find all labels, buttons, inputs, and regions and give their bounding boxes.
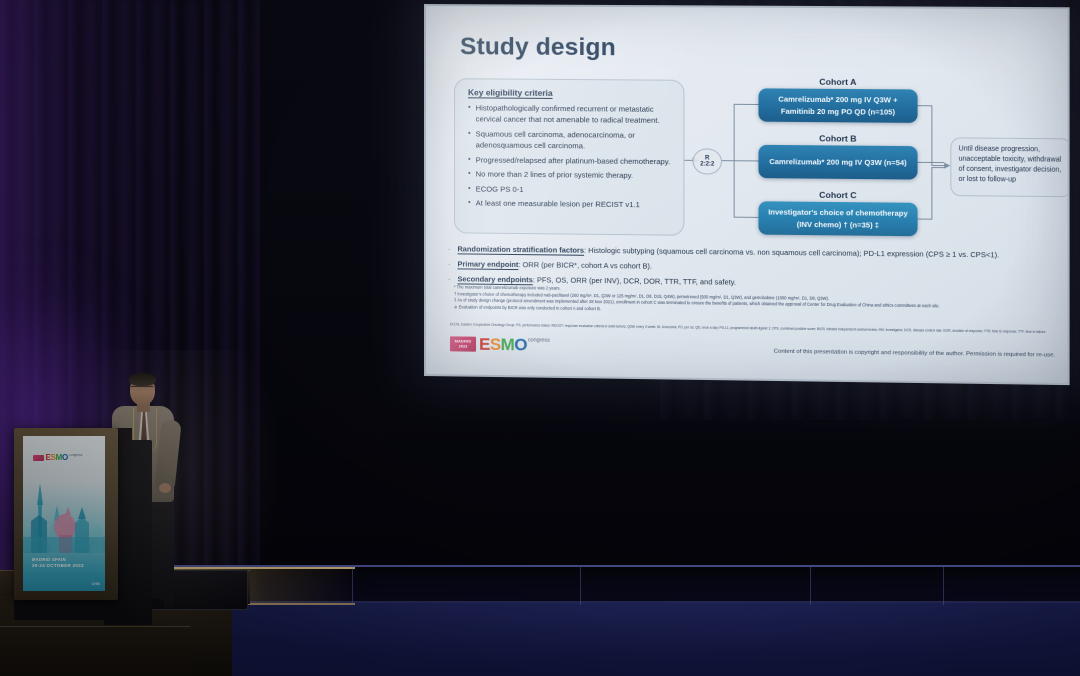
eligibility-item-text: No more than 2 lines of prior systemic t… bbox=[476, 169, 633, 182]
stage-panel-seam bbox=[943, 567, 944, 605]
madrid-2023-badge: MADRID 2023 bbox=[450, 336, 476, 351]
bullet-label: Secondary endpoints bbox=[457, 274, 532, 284]
podium-dates: 20-24 OCTOBER 2023 bbox=[32, 563, 84, 569]
bullet-icon: · bbox=[448, 274, 450, 284]
bullet-detail: : ORR (per BICR*, cohort A vs cohort B). bbox=[518, 260, 652, 271]
copyright-notice: Content of this presentation is copyrigh… bbox=[728, 348, 1055, 358]
bullet-detail: : Histologic subtyping (squamous cell ca… bbox=[584, 246, 999, 260]
footnotes: * The maximum total camrelizumab exposur… bbox=[454, 284, 1049, 318]
esmo-letter-e: E bbox=[479, 338, 490, 352]
treatment-until-box: Until disease progression, unacceptable … bbox=[950, 137, 1069, 197]
eligibility-heading: Key eligibility criteria bbox=[468, 87, 553, 98]
esmo-congress-logo: MADRID 2023 E S M O congress bbox=[450, 336, 550, 352]
list-item: • Histopathologically confirmed recurren… bbox=[468, 102, 675, 126]
eligibility-item-text: Squamous cell carcinoma, adenocarcinoma,… bbox=[476, 128, 676, 152]
cohort-a-label: Cohort A bbox=[758, 76, 917, 87]
eligibility-item-text: Progressed/relapsed after platinum-based… bbox=[476, 154, 670, 167]
eligibility-item-text: At least one measurable lesion per RECIS… bbox=[476, 198, 640, 211]
auditorium-scene: Study design Key eligibility criteria • … bbox=[0, 0, 1080, 676]
madrid-skyline-artwork bbox=[23, 475, 105, 553]
stage-step-lower bbox=[0, 626, 190, 676]
cohort-c-box: Investigator's choice of chemotherapy (I… bbox=[758, 201, 917, 236]
congress-label: congress bbox=[528, 337, 550, 343]
speaker-hand bbox=[159, 483, 171, 493]
cohort-a-box: Camrelizumab* 200 mg IV Q3W + Famitinib … bbox=[758, 88, 917, 123]
presentation-slide: Study design Key eligibility criteria • … bbox=[424, 4, 1070, 385]
randomization-node: R 2:2:2 bbox=[693, 148, 722, 174]
stage-panel-seam bbox=[580, 567, 581, 605]
randomization-ratio: 2:2:2 bbox=[700, 162, 714, 168]
podium-congress-label: congress bbox=[69, 453, 82, 457]
cohort-b-label: Cohort B bbox=[758, 133, 917, 144]
esmo-letter-o: O bbox=[514, 338, 527, 352]
list-item: · Primary endpoint: ORR (per BICR*, coho… bbox=[448, 259, 1051, 276]
podium-branding-panel: E S M O congress MADRID SPAIN 20-24 OCTO… bbox=[23, 436, 105, 591]
esmo-wordmark: E S M O bbox=[479, 338, 527, 353]
cohort-a-line1: Camrelizumab* 200 mg IV Q3W + bbox=[778, 94, 897, 106]
esmo-letter-s: S bbox=[490, 338, 501, 352]
bullet-icon: • bbox=[468, 168, 471, 179]
podium-esmo-letter-o: O bbox=[62, 455, 68, 461]
slide-title: Study design bbox=[460, 33, 616, 62]
list-item: • At least one measurable lesion per REC… bbox=[468, 198, 675, 211]
bullet-icon: • bbox=[468, 154, 471, 165]
year-label: 2023 bbox=[459, 344, 468, 348]
speaker-hair bbox=[129, 373, 156, 386]
speaker-eyeglasses bbox=[131, 386, 153, 392]
cohort-b-box: Camrelizumab* 200 mg IV Q3W (n=54) bbox=[758, 145, 917, 180]
bullet-icon: · bbox=[448, 259, 450, 269]
list-item: • No more than 2 lines of prior systemic… bbox=[468, 168, 675, 181]
eligibility-list: • Histopathologically confirmed recurren… bbox=[468, 102, 675, 214]
esmo-letter-m: M bbox=[501, 338, 515, 352]
cohort-c-line2: (INV chemo) † (n=35) ‡ bbox=[797, 218, 879, 230]
cohort-b-line1: Camrelizumab* 200 mg IV Q3W (n=54) bbox=[769, 156, 906, 169]
bullet-label: Primary endpoint bbox=[457, 259, 518, 269]
podium-madrid-badge bbox=[33, 455, 44, 461]
bullet-icon: • bbox=[468, 183, 471, 194]
stage-panel-seam bbox=[352, 567, 353, 605]
cohort-a-line2: Famitinib 20 mg PO QD (n=105) bbox=[781, 105, 895, 117]
bullet-icon: · bbox=[448, 244, 450, 254]
cohort-c-label: Cohort C bbox=[758, 189, 917, 201]
bullet-text: Randomization stratification factors: Hi… bbox=[457, 244, 999, 260]
podium-esmo-wordmark: E S M O bbox=[46, 455, 68, 461]
stage-panel-seam bbox=[810, 567, 811, 605]
list-item: • Progressed/relapsed after platinum-bas… bbox=[468, 154, 675, 167]
bullet-icon: • bbox=[468, 128, 471, 151]
list-item: • Squamous cell carcinoma, adenocarcinom… bbox=[468, 128, 675, 152]
projection-screen: Study design Key eligibility criteria • … bbox=[424, 4, 1070, 385]
bullet-icon: • bbox=[468, 102, 471, 125]
bullet-text: Primary endpoint: ORR (per BICR*, cohort… bbox=[457, 259, 652, 271]
list-item: · Randomization stratification factors: … bbox=[448, 244, 1051, 260]
bullet-icon: • bbox=[468, 198, 471, 209]
eligibility-item-text: Histopathologically confirmed recurrent … bbox=[476, 102, 676, 126]
podium-event-info: MADRID SPAIN 20-24 OCTOBER 2023 bbox=[32, 557, 84, 569]
podium-esmo-logo: E S M O congress bbox=[33, 453, 82, 461]
list-item: • ECOG PS 0-1 bbox=[468, 183, 675, 196]
podium-sponsor-badge: CHB bbox=[92, 582, 100, 586]
bullet-label: Randomization stratification factors bbox=[457, 244, 584, 254]
eligibility-item-text: ECOG PS 0-1 bbox=[476, 183, 524, 195]
stage-front-panel bbox=[120, 565, 1080, 603]
eligibility-criteria-card: Key eligibility criteria • Histopatholog… bbox=[454, 78, 684, 236]
cohort-c-line1: Investigator's choice of chemotherapy bbox=[768, 207, 908, 220]
abbreviations-legend: ECOG, Eastern Cooperative Oncology Group… bbox=[450, 322, 1051, 335]
